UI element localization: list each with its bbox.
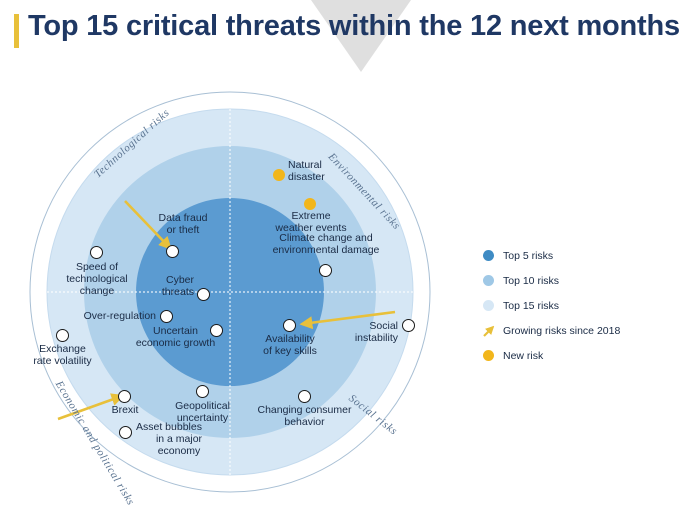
legend-dot-new-risk-icon <box>483 350 494 361</box>
label-line-3: change <box>80 285 114 297</box>
changing-consumer-label: Changing consumer behavior <box>237 405 372 429</box>
label-line-3: economy <box>136 446 222 458</box>
page-title: Top 15 critical threats within the 12 ne… <box>28 10 680 43</box>
label-line-1: Changing consumer <box>258 404 352 416</box>
over-regulation-label: Over-regulation <box>61 311 156 323</box>
label-line-2: disaster <box>288 171 325 183</box>
changing-consumer-dot[interactable] <box>298 390 311 403</box>
natural-disaster-dot[interactable] <box>273 169 285 181</box>
social-instability-dot[interactable] <box>402 319 415 332</box>
speed-tech-dot[interactable] <box>90 246 103 259</box>
brexit-label: Brexit <box>91 405 159 417</box>
page-header: Top 15 critical threats within the 12 ne… <box>0 0 680 72</box>
legend-item-growing-risks: Growing risks since 2018 <box>483 318 673 343</box>
chart-legend: Top 5 risks Top 10 risks Top 15 risks Gr… <box>483 243 673 368</box>
label-line-1: Over-regulation <box>84 310 156 322</box>
exchange-rate-dot[interactable] <box>56 329 69 342</box>
label-line-1: Climate change and <box>279 232 372 244</box>
over-regulation-dot[interactable] <box>160 310 173 323</box>
label-line-1: Natural <box>288 159 322 171</box>
legend-item-top-5: Top 5 risks <box>483 243 673 268</box>
growing-arrow-icon <box>483 325 494 336</box>
label-line-1: Extreme <box>291 210 330 222</box>
legend-item-top-15: Top 15 risks <box>483 293 673 318</box>
label-line-1: Speed of <box>76 261 118 273</box>
exchange-rate-label: Exchange rate volatility <box>10 344 115 368</box>
legend-dot-top-15-icon <box>483 300 494 311</box>
label-line-2: rate volatility <box>33 355 91 367</box>
risk-radar-chart: Technological risks Environmental risks … <box>0 76 460 516</box>
social-instability-label: Social instability <box>325 321 398 345</box>
label-line-2: threats <box>162 286 194 298</box>
cyber-threats-dot[interactable] <box>197 288 210 301</box>
label-line-2: or theft <box>167 224 200 236</box>
data-fraud-dot[interactable] <box>166 245 179 258</box>
label-line-1: Availability <box>265 333 314 345</box>
legend-label-growing-risks: Growing risks since 2018 <box>503 325 620 337</box>
label-line-1: Geopolitical <box>175 400 230 412</box>
label-line-1: Brexit <box>112 404 139 416</box>
label-line-1: Cyber <box>166 274 194 286</box>
geopolitical-dot[interactable] <box>196 385 209 398</box>
legend-item-top-10: Top 10 risks <box>483 268 673 293</box>
label-line-1: Asset bubbles <box>136 421 202 433</box>
label-line-1: Data fraud <box>158 212 207 224</box>
label-line-1: Uncertain <box>153 325 198 337</box>
label-line-2: environmental damage <box>273 244 380 256</box>
label-line-2: economic growth <box>136 337 215 349</box>
label-line-2: behavior <box>284 416 324 428</box>
label-line-2: of key skills <box>263 345 317 357</box>
label-line-1: Exchange <box>39 343 86 355</box>
legend-label-top-10: Top 10 risks <box>503 275 559 287</box>
label-line-2: instability <box>355 332 398 344</box>
legend-item-new-risk: New risk <box>483 343 673 368</box>
uncertain-growth-label: Uncertain economic growth <box>113 326 238 350</box>
data-fraud-label: Data fraud or theft <box>140 213 226 237</box>
asset-bubbles-label: Asset bubbles in a major economy <box>136 422 246 457</box>
legend-dot-top-5-icon <box>483 250 494 261</box>
title-accent-bar <box>14 14 19 48</box>
asset-bubbles-dot[interactable] <box>119 426 132 439</box>
cyber-threats-label: Cyber threats <box>128 275 194 299</box>
legend-label-top-15: Top 15 risks <box>503 300 559 312</box>
label-line-1: Social <box>369 320 398 332</box>
brexit-dot[interactable] <box>118 390 131 403</box>
legend-label-top-5: Top 5 risks <box>503 250 553 262</box>
label-line-2: technological <box>66 273 127 285</box>
legend-label-new-risk: New risk <box>503 350 543 362</box>
extreme-weather-dot[interactable] <box>304 198 316 210</box>
label-line-2: in a major <box>136 434 222 446</box>
climate-change-dot[interactable] <box>319 264 332 277</box>
availability-skills-dot[interactable] <box>283 319 296 332</box>
legend-dot-top-10-icon <box>483 275 494 286</box>
natural-disaster-label: Natural disaster <box>288 160 368 184</box>
climate-change-label: Climate change and environmental damage <box>252 233 400 257</box>
